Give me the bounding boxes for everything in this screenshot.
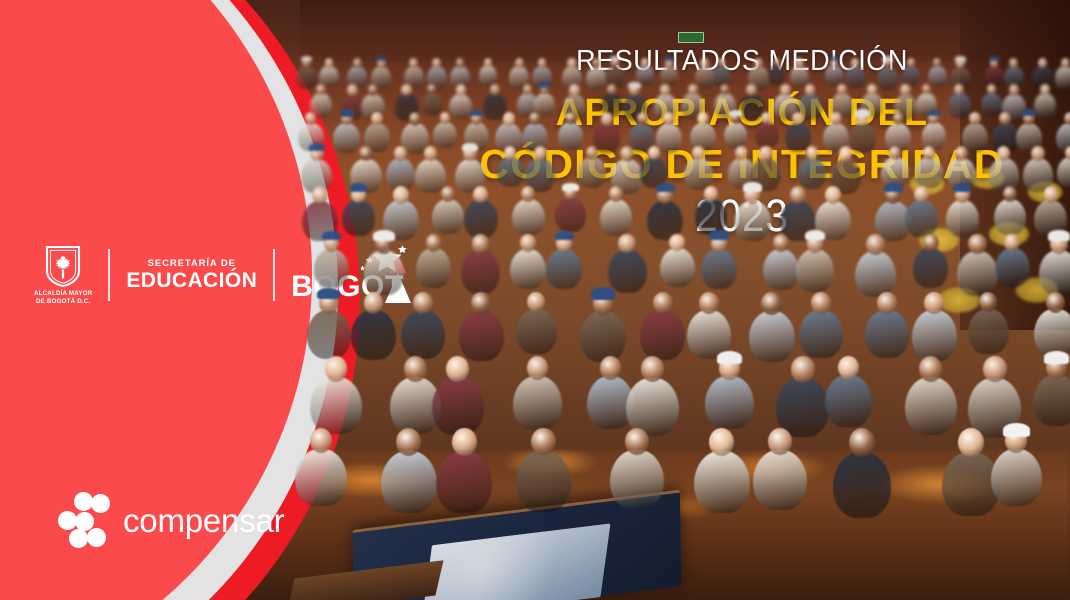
logo-secretaria-educacion: SECRETARÍA DE EDUCACIÓN (126, 258, 257, 292)
logo-divider-2 (273, 249, 275, 301)
laptop-screen (422, 523, 611, 600)
logo-compensar: compensar (58, 492, 284, 548)
compensar-wordmark: compensar (123, 504, 284, 537)
alcaldia-line-2: DE BOGOTÁ D.C. (34, 298, 92, 306)
presentation-slide: ALCALDÍA MAYOR DE BOGOTÁ D.C. SECRETARÍA… (0, 0, 1070, 600)
logo-alcaldia-caption: ALCALDÍA MAYOR DE BOGOTÁ D.C. (34, 290, 92, 305)
secretaria-line-1: SECRETARÍA DE (148, 258, 236, 269)
logo-alcaldia-mayor: ALCALDÍA MAYOR DE BOGOTÁ D.C. (34, 245, 92, 305)
bogota-coat-of-arms-icon (45, 245, 81, 287)
alcaldia-line-1: ALCALDÍA MAYOR (34, 290, 92, 298)
institutional-logo-bar: ALCALDÍA MAYOR DE BOGOTÁ D.C. SECRETARÍA… (34, 240, 413, 310)
secretaria-line-2: EDUCACIÓN (126, 269, 257, 292)
compensar-dots-icon (58, 492, 110, 548)
logo-divider-1 (108, 249, 110, 301)
